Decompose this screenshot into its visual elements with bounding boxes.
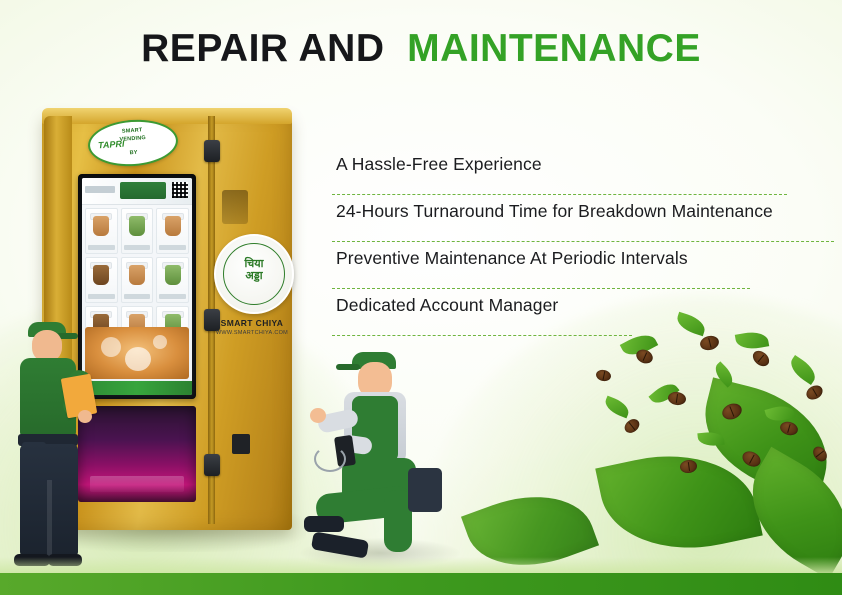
door-emblem [222,190,248,224]
technician-shoe [304,516,344,532]
feature-divider [332,335,632,336]
payment-slot[interactable] [232,434,250,454]
drink-tile[interactable] [156,208,189,254]
poster-canvas: REPAIR AND MAINTENANCE A Hassle-Free Exp… [0,0,842,595]
feature-label: 24-Hours Turnaround Time for Breakdown M… [336,201,773,222]
drink-tile[interactable] [85,208,118,254]
touchscreen-topbar [82,178,192,205]
topbar-label-placeholder [85,186,115,193]
tool-bag [408,468,442,512]
brand-name-label: SMART CHIYA [214,318,290,328]
drink-tile[interactable] [121,257,154,303]
device-cable [314,446,346,472]
list-item: Preventive Maintenance At Periodic Inter… [332,242,837,289]
machine-top-cap [42,108,292,124]
machine-hinge [204,454,220,476]
brand-url-label: WWW.SMARTCHIYA.COM [208,330,296,336]
technician-cap-brim [336,364,360,370]
bottom-accent-bar [0,573,842,595]
list-item: 24-Hours Turnaround Time for Breakdown M… [332,195,837,242]
brand-logo-badge: चियाअड्डा [214,234,294,314]
technician-kneeling-illustration [300,340,470,572]
sticker-wordmark: TAPRI [98,139,125,151]
technician-hand [310,408,326,423]
badge-script-text: चियाअड्डा [244,258,263,282]
feature-label: A Hassle-Free Experience [336,154,542,175]
drink-tile[interactable] [156,257,189,303]
title-part-accent: MAINTENANCE [407,27,701,70]
technician-standing-illustration [8,310,100,578]
dispenser-slot [90,476,184,492]
drink-tile[interactable] [121,208,154,254]
bottom-gradient-band [0,557,842,573]
list-item: A Hassle-Free Experience [332,148,837,195]
feature-label: Dedicated Account Manager [336,295,558,316]
title-part-primary: REPAIR AND [141,27,384,70]
drink-tile[interactable] [85,257,118,303]
machine-hinge [204,140,220,162]
feature-label: Preventive Maintenance At Periodic Inter… [336,248,688,269]
technician-leg-seam [47,480,52,556]
hero-beverage-image [85,327,189,379]
technician-hand [78,410,92,423]
qr-code-icon [172,182,188,198]
page-title: REPAIR AND MAINTENANCE [0,28,842,71]
topbar-highlight-chip [120,182,166,199]
feature-list: A Hassle-Free Experience 24-Hours Turnar… [332,148,837,336]
list-item: Dedicated Account Manager [332,289,837,336]
